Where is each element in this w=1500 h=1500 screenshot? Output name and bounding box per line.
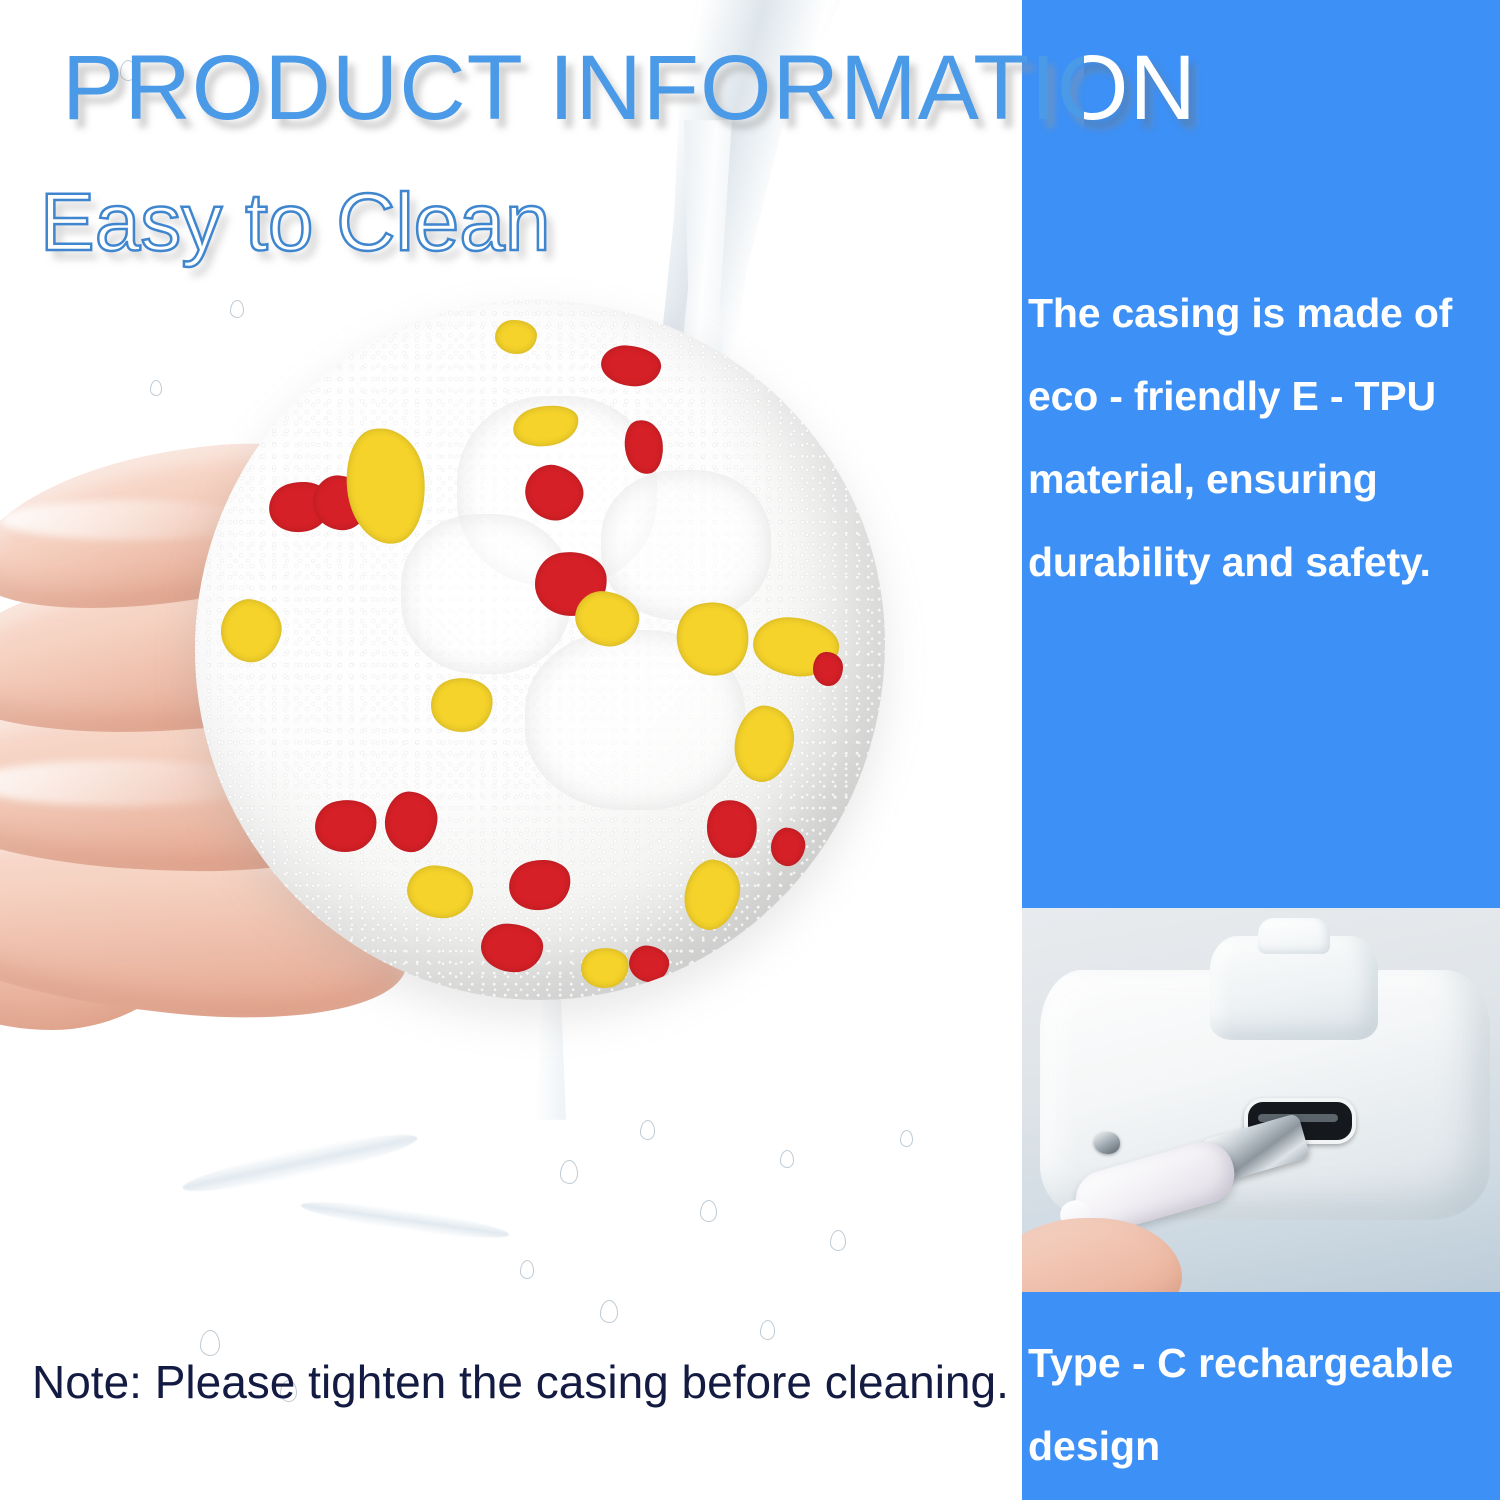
water-droplet (780, 1150, 794, 1168)
water-droplet (120, 60, 136, 81)
water-droplet (640, 1120, 655, 1140)
cleaning-note: Note: Please tighten the casing before c… (32, 1352, 1009, 1412)
water-droplet (700, 1200, 717, 1222)
ball-patch-yellow (677, 855, 746, 936)
right-info-panel: The casing is made of eco - friendly E -… (1022, 0, 1500, 1500)
ball-patch-red (381, 789, 441, 856)
description-line: material, ensuring (1028, 438, 1498, 521)
screw-detail (1094, 1132, 1120, 1154)
ball-patch-yellow (578, 945, 631, 991)
water-droplet (830, 1230, 846, 1251)
ball-patch-yellow (214, 594, 287, 669)
fingertip-holding-cable (1022, 1218, 1182, 1292)
ball-facet (601, 470, 771, 620)
ball-patch-red (704, 798, 760, 861)
ball-patch-yellow (404, 863, 475, 922)
ball-patch-yellow (428, 674, 497, 736)
water-droplet (150, 380, 162, 396)
water-droplet (520, 1260, 534, 1279)
water-droplet (900, 1130, 913, 1147)
water-droplet (760, 1320, 775, 1340)
description-line: durability and safety. (1028, 521, 1498, 604)
ball-patch-red (311, 795, 381, 857)
ball-patch-red (768, 825, 808, 868)
ball-patch-red (626, 943, 672, 985)
device-nub (1258, 918, 1330, 954)
water-droplet (560, 1160, 578, 1184)
ball-patch-yellow (495, 320, 537, 354)
material-description: The casing is made of eco - friendly E -… (1028, 272, 1498, 604)
ball-patch-red (479, 922, 544, 974)
ball-patch-yellow (341, 424, 431, 548)
water-droplet (230, 300, 244, 318)
water-droplet (600, 1300, 618, 1323)
usb-c-charging-photo (1022, 908, 1500, 1292)
type-c-caption: Type - C rechargeable design (1028, 1322, 1498, 1488)
ball-patch-red (599, 343, 663, 389)
product-information-infographic: Note: Please tighten the casing before c… (0, 0, 1500, 1500)
ball-patch-red (504, 854, 575, 916)
description-line: eco - friendly E - TPU (1028, 355, 1498, 438)
ball-patch-red (813, 652, 843, 686)
description-line: The casing is made of (1028, 272, 1498, 355)
caption-line: Type - C rechargeable (1028, 1322, 1498, 1405)
textured-foam-ball (195, 300, 885, 1000)
caption-line: design (1028, 1405, 1498, 1488)
page-subtitle: Easy to Clean (40, 168, 551, 278)
